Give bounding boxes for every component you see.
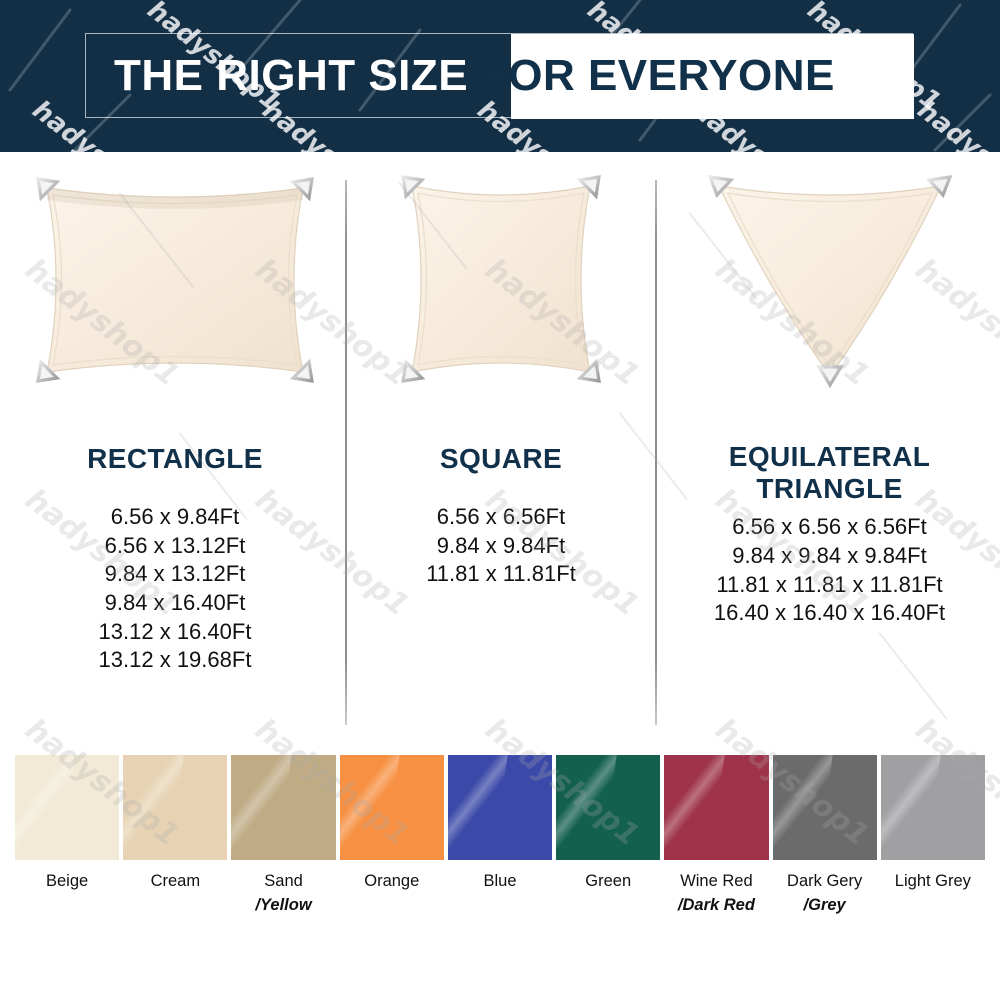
color-swatch-wine-red[interactable] [664, 755, 768, 860]
rectangle-shade-sail-image [10, 170, 340, 405]
column-triangle: EQUILATERAL TRIANGLE 6.56 x 6.56 x 6.56F… [662, 170, 997, 628]
color-label-row: Beige Cream Sand /Yellow Orange Blue Gre… [15, 870, 985, 918]
color-alt-name: /Dark Red [664, 894, 768, 918]
swatch-sheen [340, 755, 402, 860]
triangle-shade-sail-icon [701, 170, 959, 392]
page-title-secondary: FOR EVERYONE [468, 51, 835, 100]
color-label-light-grey: Light Grey [881, 870, 985, 918]
triangle-shade-sail-image [662, 170, 997, 405]
column-rectangle: RECTANGLE 6.56 x 9.84Ft 6.56 x 13.12Ft 9… [10, 170, 340, 675]
swatch-sheen [123, 755, 185, 860]
color-swatch-sand[interactable] [231, 755, 335, 860]
size-item: 9.84 x 9.84 x 9.84Ft [662, 542, 997, 571]
color-name: Blue [483, 872, 516, 890]
square-size-list: 6.56 x 6.56Ft 9.84 x 9.84Ft 11.81 x 11.8… [352, 503, 650, 589]
swatch-sheen [231, 755, 293, 860]
size-item: 6.56 x 6.56Ft [352, 503, 650, 532]
color-label-green: Green [556, 870, 660, 918]
header-banner: hadyshop1 hadyshop1 hadyshop1 hadyshop1 … [0, 0, 1000, 152]
column-square: SQUARE 6.56 x 6.56Ft 9.84 x 9.84Ft 11.81… [352, 170, 650, 589]
color-label-cream: Cream [123, 870, 227, 918]
color-swatch-light-grey[interactable] [881, 755, 985, 860]
column-divider-1 [345, 180, 347, 725]
color-alt-name: /Yellow [231, 894, 335, 918]
square-shade-sail-image [352, 170, 650, 405]
swatch-sheen [773, 755, 835, 860]
color-swatch-blue[interactable] [448, 755, 552, 860]
color-name: Cream [151, 872, 201, 890]
page-title: THE RIGHT SIZE FOR EVERYONE [86, 54, 835, 98]
page-title-primary: THE RIGHT SIZE [114, 51, 468, 100]
color-label-blue: Blue [448, 870, 552, 918]
color-label-dark-grey: Dark Gery /Grey [773, 870, 877, 918]
color-label-wine-red: Wine Red /Dark Red [664, 870, 768, 918]
color-name: Green [585, 872, 631, 890]
swatch-sheen [664, 755, 726, 860]
color-name: Orange [364, 872, 419, 890]
color-name: Wine Red [680, 872, 752, 890]
size-item: 13.12 x 16.40Ft [10, 618, 340, 647]
watermark-streak [878, 632, 947, 720]
color-label-orange: Orange [340, 870, 444, 918]
size-item: 11.81 x 11.81 x 11.81Ft [662, 571, 997, 600]
color-alt-name: /Grey [773, 894, 877, 918]
infographic-page: hadyshop1 hadyshop1 hadyshop1 hadyshop1 … [0, 0, 1000, 1000]
color-swatch-dark-grey[interactable] [773, 755, 877, 860]
size-item: 6.56 x 9.84Ft [10, 503, 340, 532]
swatch-sheen [448, 755, 510, 860]
square-shade-sail-icon [396, 170, 606, 388]
size-item: 9.84 x 13.12Ft [10, 560, 340, 589]
color-swatch-orange[interactable] [340, 755, 444, 860]
swatch-sheen [556, 755, 618, 860]
square-title: SQUARE [352, 405, 650, 475]
color-label-beige: Beige [15, 870, 119, 918]
column-divider-2 [655, 180, 657, 725]
color-name: Light Grey [895, 872, 971, 890]
color-name: Sand [264, 872, 303, 890]
size-item: 9.84 x 9.84Ft [352, 532, 650, 561]
size-item: 9.84 x 16.40Ft [10, 589, 340, 618]
color-label-sand: Sand /Yellow [231, 870, 335, 918]
size-item: 16.40 x 16.40 x 16.40Ft [662, 599, 997, 628]
size-item: 6.56 x 13.12Ft [10, 532, 340, 561]
size-item: 11.81 x 11.81Ft [352, 560, 650, 589]
color-name: Dark Gery [787, 872, 862, 890]
rectangle-shade-sail-icon [29, 170, 321, 390]
swatch-sheen [15, 755, 77, 860]
color-swatch-row [15, 755, 985, 860]
swatch-sheen [881, 755, 943, 860]
watermark-text: hadyshop1 [912, 95, 1000, 152]
color-swatch-green[interactable] [556, 755, 660, 860]
triangle-title: EQUILATERAL TRIANGLE [662, 405, 997, 505]
color-swatch-cream[interactable] [123, 755, 227, 860]
rectangle-title: RECTANGLE [10, 405, 340, 475]
size-item: 6.56 x 6.56 x 6.56Ft [662, 513, 997, 542]
title-box: THE RIGHT SIZE FOR EVERYONE [85, 33, 913, 118]
triangle-size-list: 6.56 x 6.56 x 6.56Ft 9.84 x 9.84 x 9.84F… [662, 513, 997, 627]
size-item: 13.12 x 19.68Ft [10, 646, 340, 675]
color-swatch-beige[interactable] [15, 755, 119, 860]
color-name: Beige [46, 872, 88, 890]
rectangle-size-list: 6.56 x 9.84Ft 6.56 x 13.12Ft 9.84 x 13.1… [10, 503, 340, 675]
